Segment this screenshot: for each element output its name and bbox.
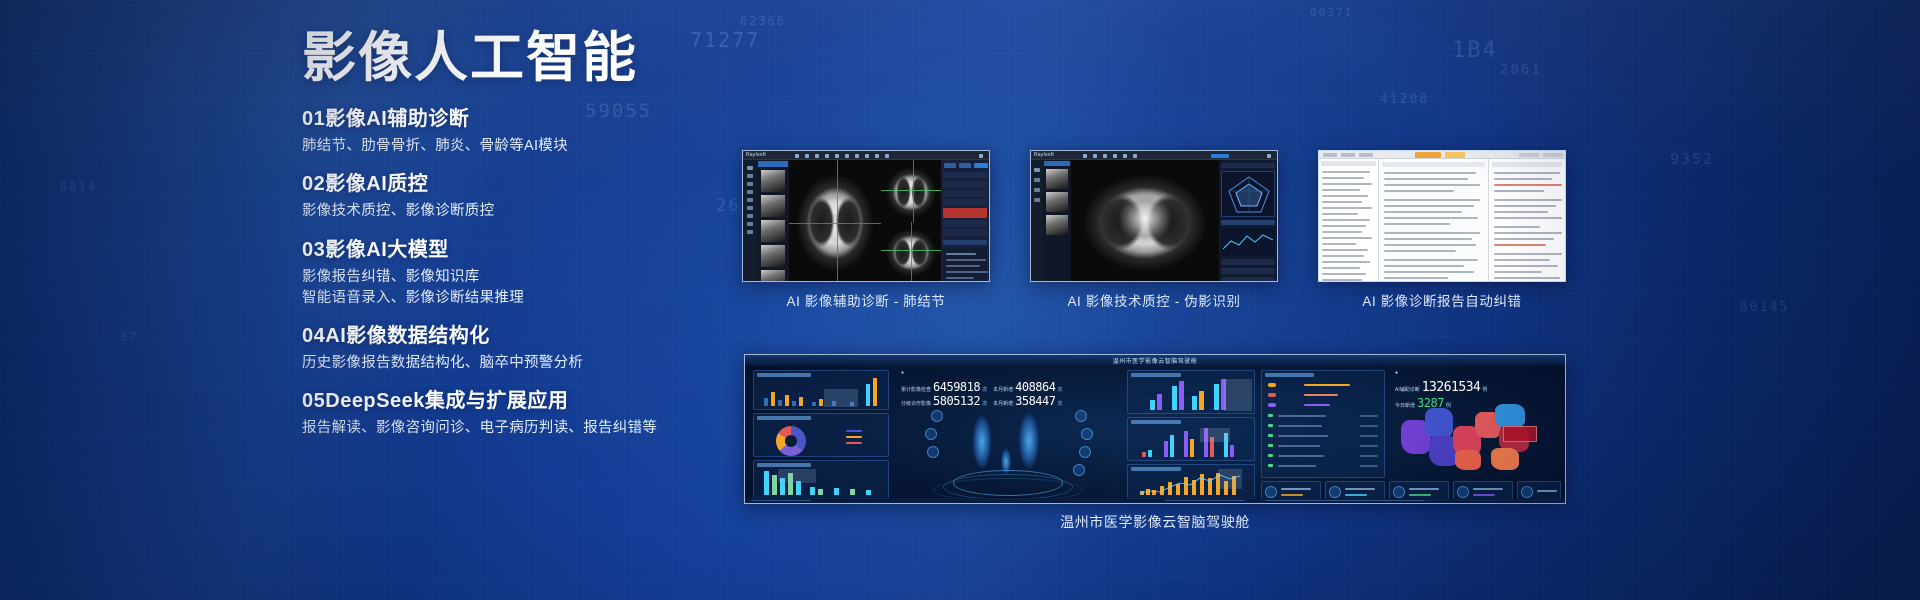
banner-root: 62366 71277 59055 26752 1B4 2061 00371 4… xyxy=(0,0,1920,600)
background-vignette xyxy=(0,0,1920,600)
